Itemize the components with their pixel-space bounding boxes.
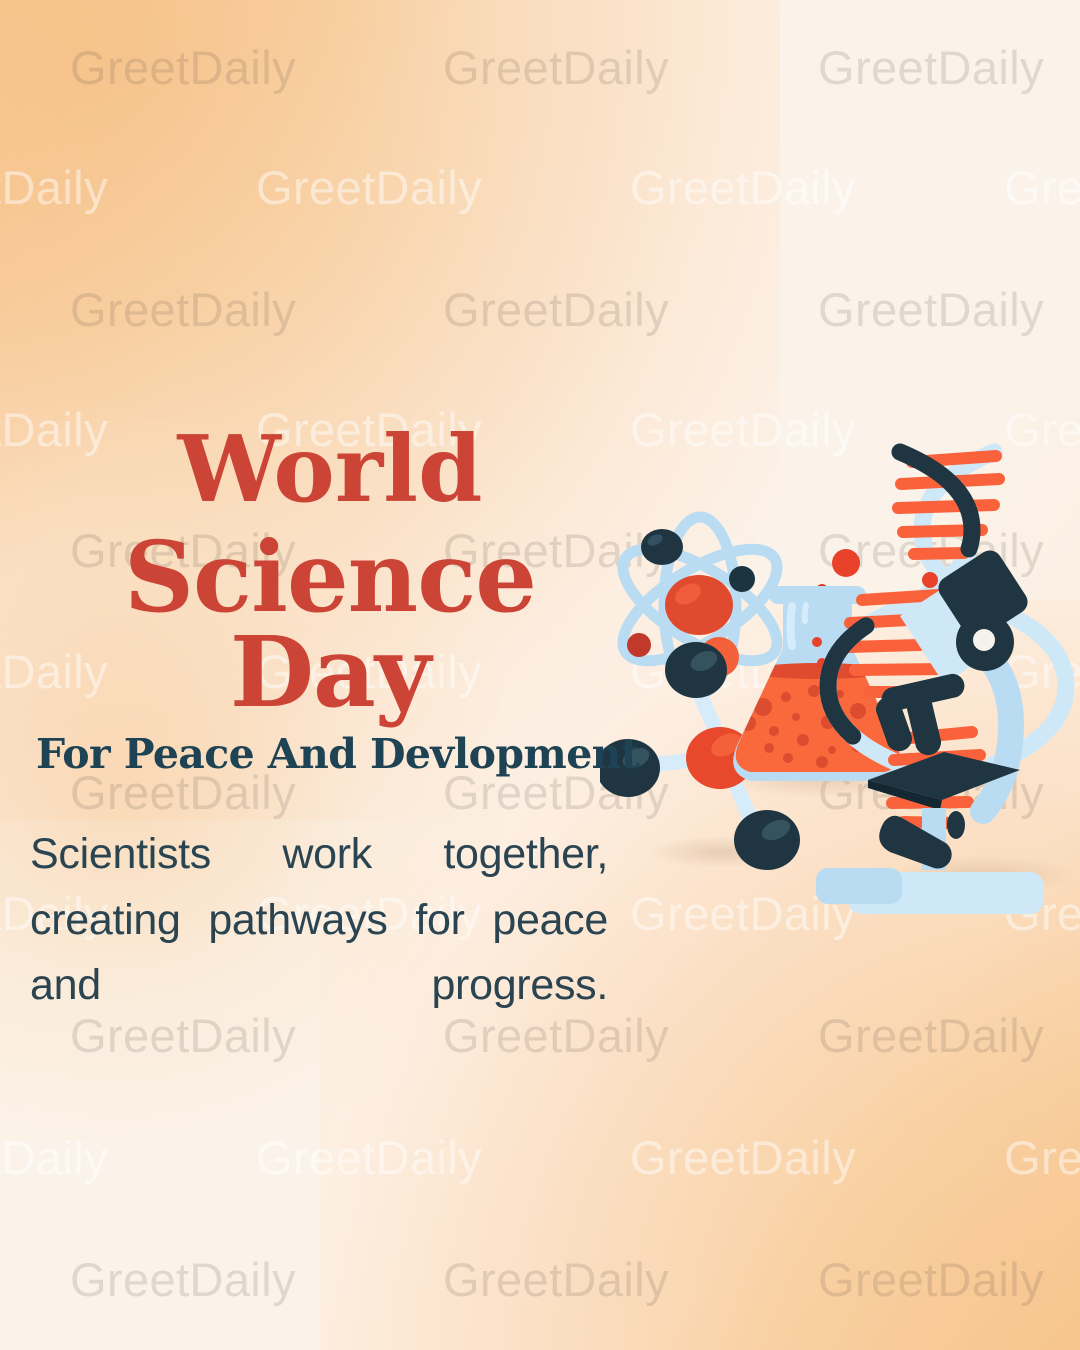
atom-electron-dark-1 bbox=[641, 529, 683, 565]
title-line-2: Science Day bbox=[30, 530, 630, 720]
title-line-1: World bbox=[30, 424, 630, 514]
science-illustration bbox=[600, 420, 1080, 930]
molecule-atom-dark-bottom bbox=[734, 810, 800, 870]
page-title: World Science Day bbox=[30, 424, 630, 720]
body-text: Scientists work together, creating pathw… bbox=[30, 822, 608, 1083]
headline-block: World Science Day For Peace And Devlopme… bbox=[30, 424, 630, 1084]
dna-bubble bbox=[922, 572, 938, 588]
page-subtitle: For Peace And Devlopment bbox=[36, 734, 630, 775]
atom-electron-red-1 bbox=[627, 633, 651, 657]
flask-bubble-1 bbox=[832, 549, 860, 577]
atom-electron-dark-2 bbox=[729, 566, 755, 592]
poster-canvas: GreetDailyGreetDailyGreetDailyGreetDaily… bbox=[0, 0, 1080, 1350]
